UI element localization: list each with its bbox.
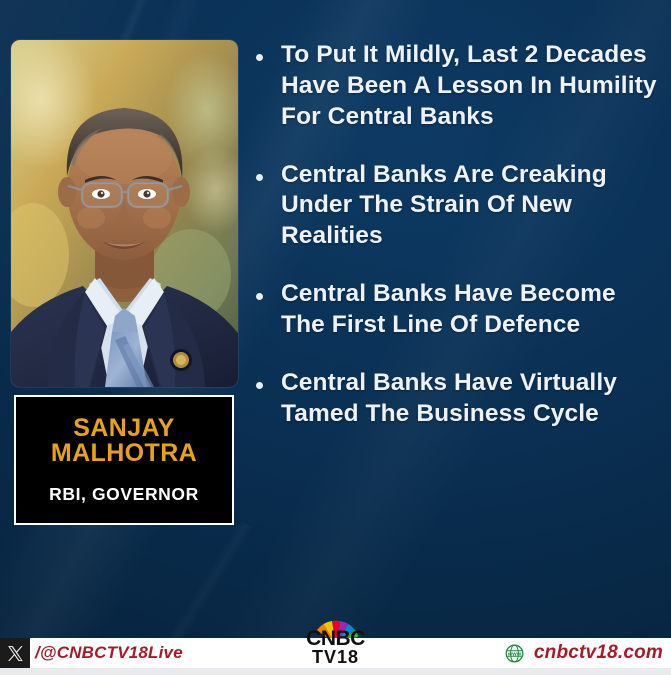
speaker-photo: [11, 40, 238, 387]
bullet-item: To Put It Mildly, Last 2 Decades Have Be…: [256, 40, 664, 133]
logo-line-cnbc: CNBC: [288, 628, 384, 649]
news-graphic-card: SANJAY MALHOTRA RBI, GOVERNOR To Put It …: [0, 0, 671, 675]
headline-bullet-list: To Put It Mildly, Last 2 Decades Have Be…: [256, 40, 664, 430]
bullet-text: Central Banks Have Virtually Tamed The B…: [281, 368, 664, 430]
bullet-text: Central Banks Have Become The First Line…: [281, 279, 664, 341]
cnbc-tv18-wordmark: CNBC TV18: [288, 628, 384, 666]
website-link[interactable]: www cnbctv18.com: [505, 642, 663, 664]
speaker-role: RBI, GOVERNOR: [49, 484, 199, 505]
speaker-name-line2: MALHOTRA: [51, 441, 197, 467]
x-logo-glyph: [7, 645, 24, 662]
bullet-item: Central Banks Are Creaking Under The Str…: [256, 160, 664, 253]
bullet-dot-icon: [256, 382, 263, 389]
speaker-portrait-image: [11, 40, 238, 387]
bullet-item: Central Banks Have Become The First Line…: [256, 279, 664, 341]
speaker-name-line1: SANJAY: [73, 414, 175, 442]
bullet-dot-icon: [256, 54, 263, 61]
svg-text:www: www: [507, 651, 522, 657]
social-handle[interactable]: /@CNBCTV18Live: [0, 638, 183, 668]
website-url-text[interactable]: cnbctv18.com: [534, 642, 663, 664]
logo-line-tv18: TV18: [288, 648, 384, 666]
bullet-dot-icon: [256, 174, 263, 181]
bullet-item: Central Banks Have Virtually Tamed The B…: [256, 368, 664, 430]
social-handle-text[interactable]: /@CNBCTV18Live: [35, 643, 183, 663]
bullet-dot-icon: [256, 293, 263, 300]
bullet-text: To Put It Mildly, Last 2 Decades Have Be…: [281, 40, 664, 133]
speaker-name: SANJAY MALHOTRA: [51, 416, 197, 467]
www-globe-icon: www: [505, 644, 524, 663]
footer-bar: /@CNBCTV18Live CNBC TV18 www cnbctv18.co…: [0, 638, 671, 675]
speaker-nameplate: SANJAY MALHOTRA RBI, GOVERNOR: [14, 395, 234, 525]
x-twitter-icon[interactable]: [0, 638, 30, 668]
cnbc-tv18-logo: CNBC TV18: [288, 628, 384, 666]
bullet-text: Central Banks Are Creaking Under The Str…: [281, 160, 664, 253]
